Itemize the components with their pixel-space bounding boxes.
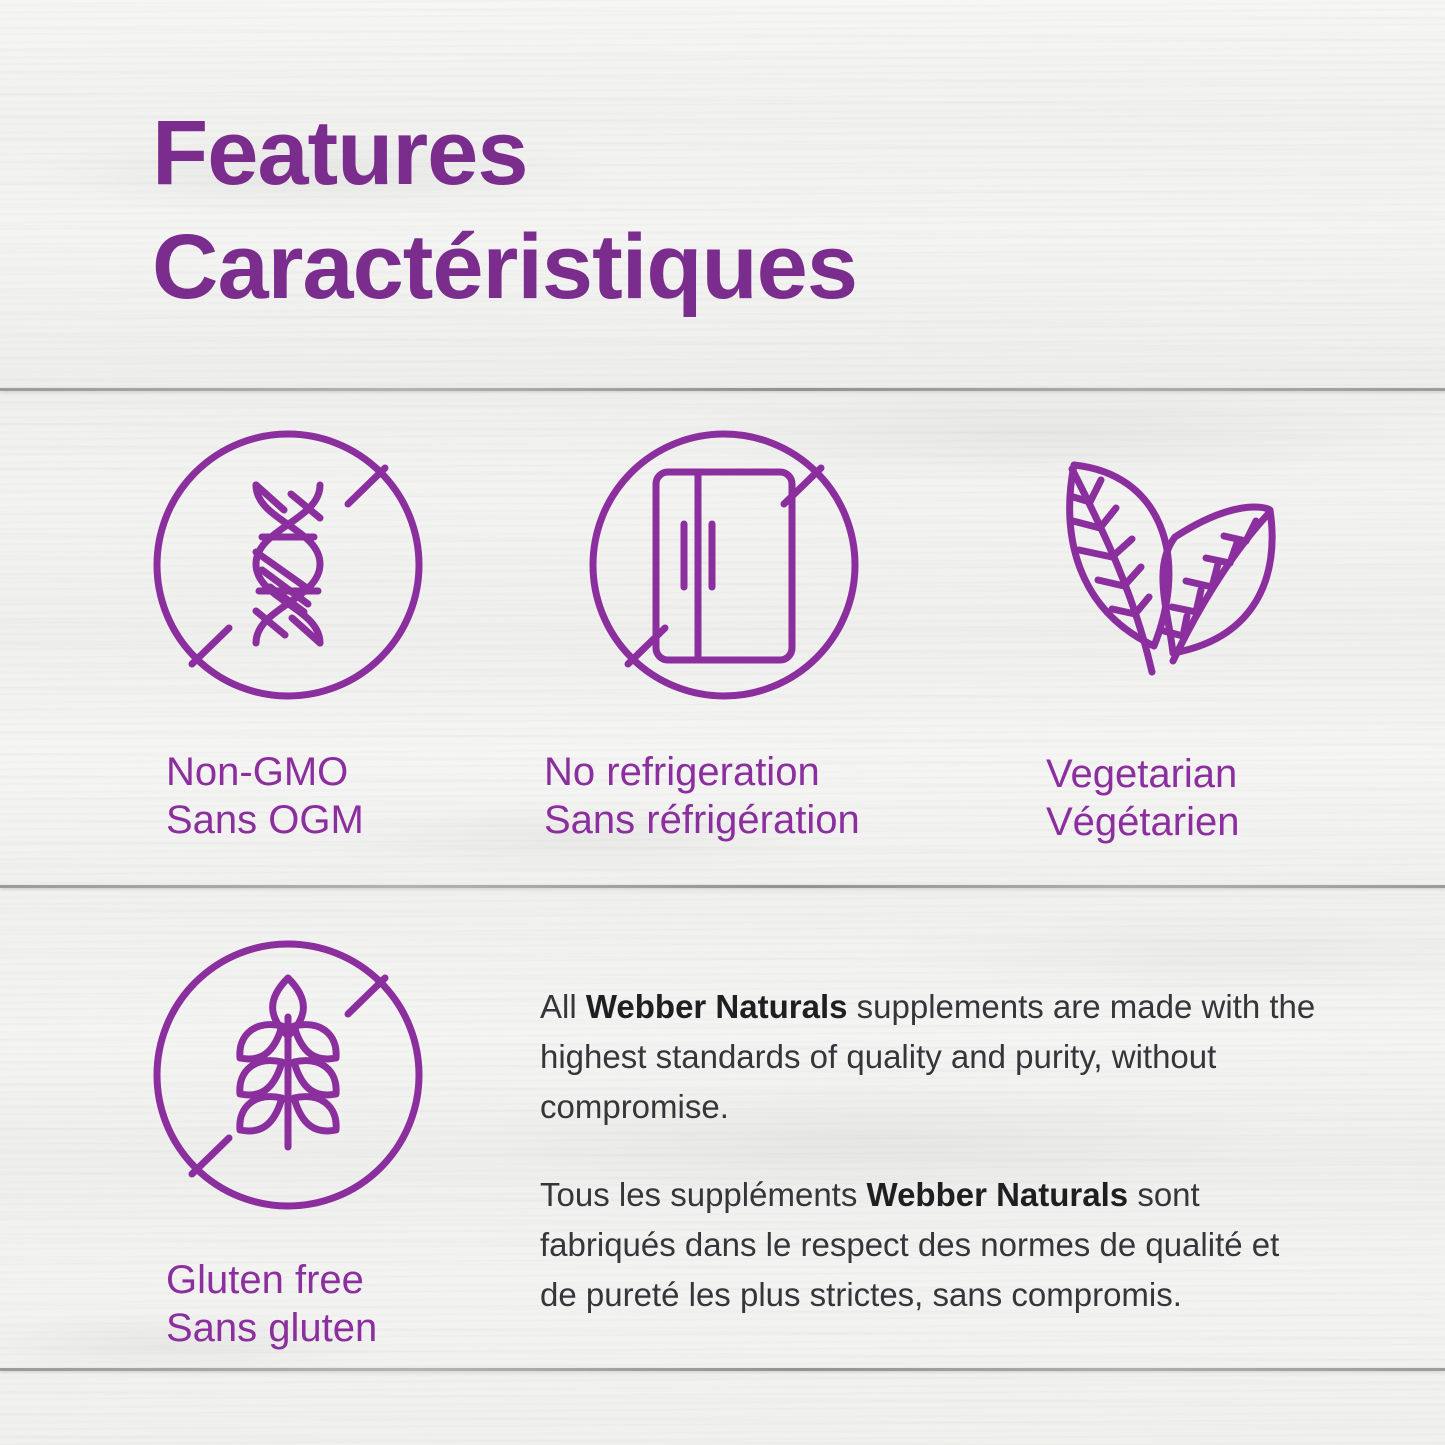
feature-vegetarian: Vegetarian Végétarien: [1042, 424, 1314, 846]
title-line-fr: Caractéristiques: [152, 210, 1302, 324]
plank-seam-3: [0, 1368, 1445, 1371]
desc-fr-before: Tous les suppléments: [540, 1176, 867, 1213]
description-paragraph-fr: Tous les suppléments Webber Naturals son…: [540, 1170, 1320, 1320]
feature-label-fr: Végétarien: [1046, 798, 1314, 846]
feature-label-fr: Sans réfrigération: [544, 796, 860, 844]
description-paragraph-en: All Webber Naturals supplements are made…: [540, 982, 1320, 1132]
feature-panel: Features Caractéristiques: [0, 0, 1445, 1445]
feature-no-refrigeration: No refrigeration Sans réfrigération: [588, 424, 860, 844]
feature-labels: Vegetarian Végétarien: [1046, 750, 1314, 846]
no-gmo-dna-icon: [152, 424, 424, 706]
feature-label-fr: Sans gluten: [166, 1304, 424, 1352]
feature-labels: Non-GMO Sans OGM: [166, 748, 424, 844]
brand-name-en: Webber Naturals: [586, 988, 848, 1025]
feature-labels: No refrigeration Sans réfrigération: [544, 748, 860, 844]
feature-non-gmo: Non-GMO Sans OGM: [152, 424, 424, 844]
brand-name-fr: Webber Naturals: [867, 1176, 1129, 1213]
no-wheat-icon: [152, 934, 424, 1216]
plank-seam-2: [0, 885, 1445, 888]
feature-label-en: No refrigeration: [544, 748, 860, 796]
page-title: Features Caractéristiques: [152, 96, 1302, 324]
desc-en-before: All: [540, 988, 586, 1025]
no-refrigerator-icon: [588, 424, 860, 706]
feature-label-en: Vegetarian: [1046, 750, 1314, 798]
feature-labels: Gluten free Sans gluten: [166, 1256, 424, 1352]
feature-label-en: Gluten free: [166, 1256, 424, 1304]
title-line-en: Features: [152, 96, 1302, 210]
plank-seam-1: [0, 388, 1445, 391]
two-leaves-icon: [1042, 424, 1314, 706]
feature-label-en: Non-GMO: [166, 748, 424, 796]
feature-gluten-free: Gluten free Sans gluten: [152, 934, 424, 1352]
description-block: All Webber Naturals supplements are made…: [540, 982, 1320, 1320]
feature-label-fr: Sans OGM: [166, 796, 424, 844]
